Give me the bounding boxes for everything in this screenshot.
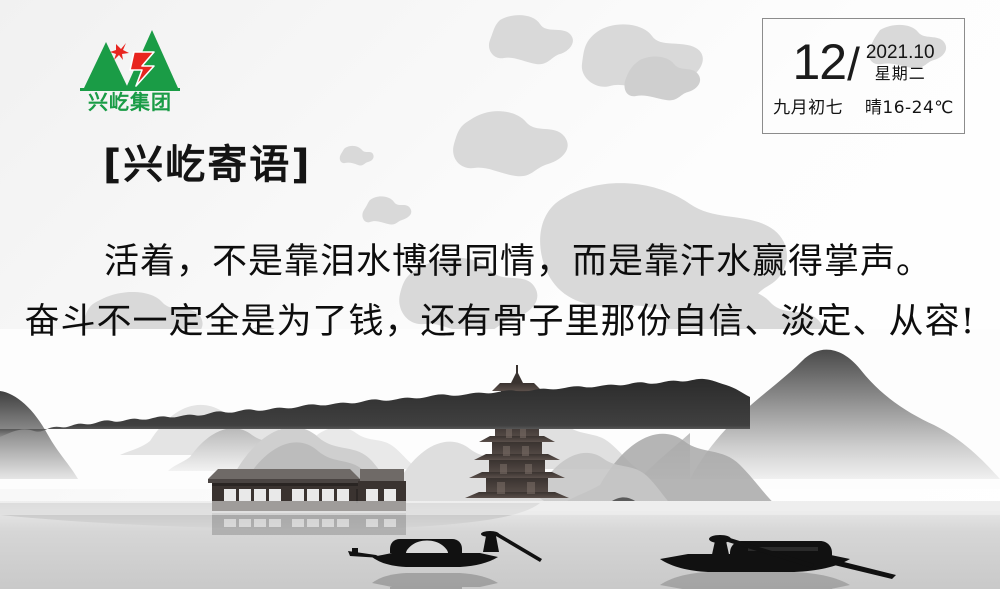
date-card-bottom-row: 九月初七 晴16-24℃ [763,93,964,118]
logo-text: 兴屹集团 [70,92,190,112]
quote-line-1: 活着，不是靠泪水博得同情，而是靠汗水赢得掌声。 [0,232,1000,292]
date-card-right-col: 2021.10 星期二 [866,42,935,87]
date-day: 12 [792,37,846,87]
date-card: 12 / 2021.10 星期二 九月初七 晴16-24℃ [762,18,965,134]
date-weekday: 星期二 [875,64,926,83]
quote-block: 活着，不是靠泪水博得同情，而是靠汗水赢得掌声。 奋斗不一定全是为了钱，还有骨子里… [0,232,1000,352]
ink-wash-landscape [0,329,1000,589]
brand-logo[interactable]: 兴屹集团 [70,24,190,128]
date-card-top-row: 12 / 2021.10 星期二 [763,19,964,87]
lunar-date: 九月初七 [773,98,843,118]
mountain-lightning-logo-icon [70,24,190,92]
weather-info: 晴16-24℃ [865,98,954,118]
page-title: [兴屹寄语] [103,145,312,185]
date-slash: / [847,41,860,87]
quote-line-2: 奋斗不一定全是为了钱，还有骨子里那份自信、淡定、从容! [0,292,1000,352]
poster-canvas: 兴屹集团 12 / 2021.10 星期二 九月初七 晴16-24℃ [兴屹寄语… [0,0,1000,589]
date-year-month: 2021.10 [866,42,935,64]
